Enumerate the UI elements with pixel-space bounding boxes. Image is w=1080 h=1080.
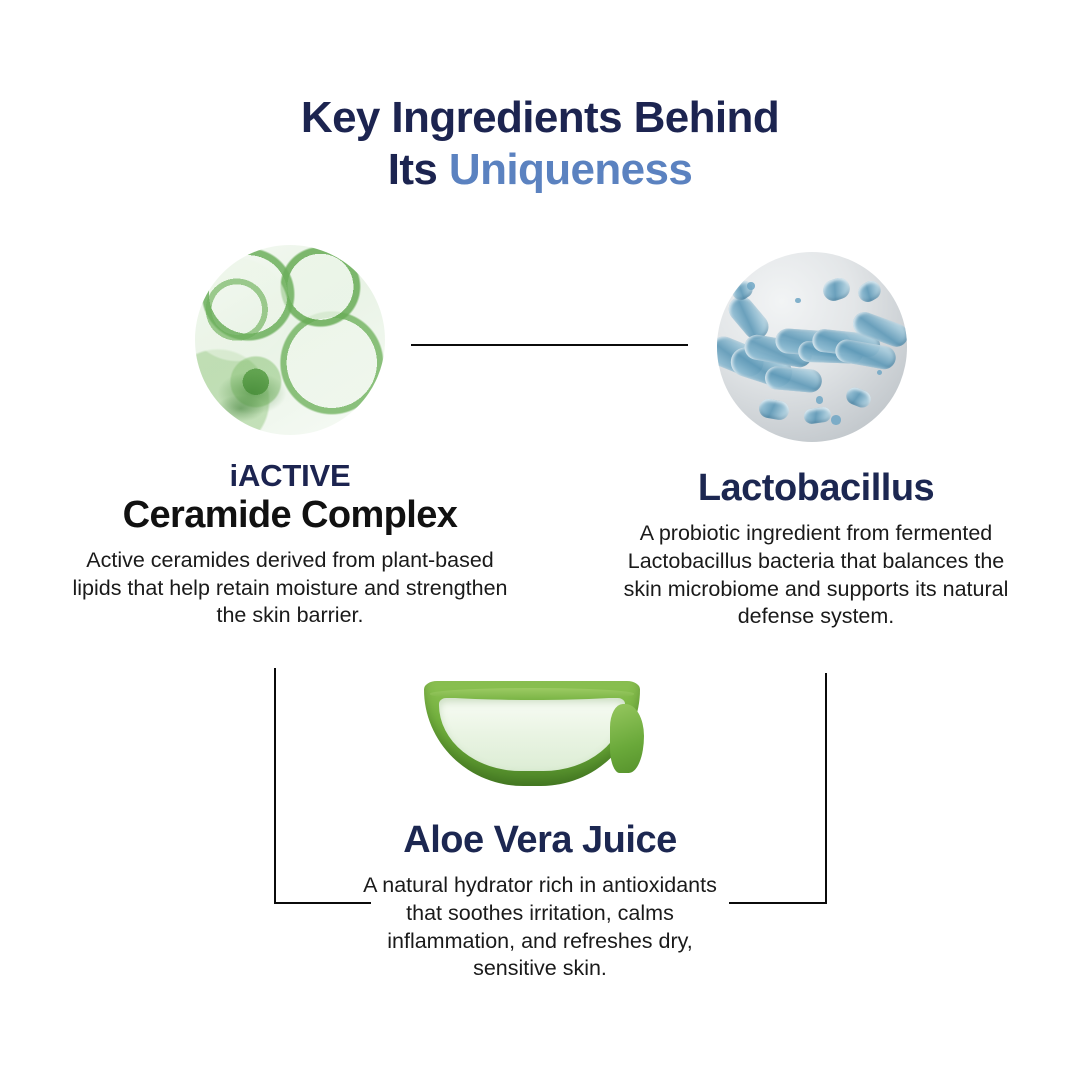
page-title: Key Ingredients Behind Its Uniqueness xyxy=(0,96,1080,192)
ingredient-ceramide: iACTIVE Ceramide Complex Active ceramide… xyxy=(70,460,510,630)
title-line-1: Key Ingredients Behind xyxy=(0,96,1080,140)
ingredient-ceramide-description: Active ceramides derived from plant-base… xyxy=(70,547,510,630)
title-line-2: Its Uniqueness xyxy=(0,148,1080,192)
infographic-canvas: Key Ingredients Behind Its Uniqueness xyxy=(0,0,1080,1080)
connector-bracket-left-vertical xyxy=(274,668,276,904)
ingredient-aloe-vera-description: A natural hydrator rich in antioxidants … xyxy=(350,872,730,983)
ingredient-lactobacillus: Lactobacillus A probiotic ingredient fro… xyxy=(620,468,1012,631)
connector-ceramide-to-lactobacillus xyxy=(411,344,688,346)
ingredient-lactobacillus-description: A probiotic ingredient from fermented La… xyxy=(620,520,1012,631)
ingredient-ceramide-eyebrow: iACTIVE xyxy=(70,460,510,493)
connector-bracket-right-horizontal xyxy=(729,902,827,904)
ingredient-aloe-vera-name: Aloe Vera Juice xyxy=(350,820,730,860)
connector-bracket-right-vertical xyxy=(825,673,827,904)
title-line-2-prefix: Its xyxy=(388,145,449,194)
ingredient-aloe-vera: Aloe Vera Juice A natural hydrator rich … xyxy=(350,820,730,983)
ingredient-lactobacillus-name: Lactobacillus xyxy=(620,468,1012,508)
sliced-aloe-vera-leaf-photo xyxy=(424,681,640,786)
ingredient-ceramide-name: Ceramide Complex xyxy=(70,495,510,535)
blue-lactobacillus-bacteria-photo xyxy=(717,252,907,442)
title-line-2-accent: Uniqueness xyxy=(449,145,692,194)
green-ceramide-bubbles-photo xyxy=(195,245,385,435)
